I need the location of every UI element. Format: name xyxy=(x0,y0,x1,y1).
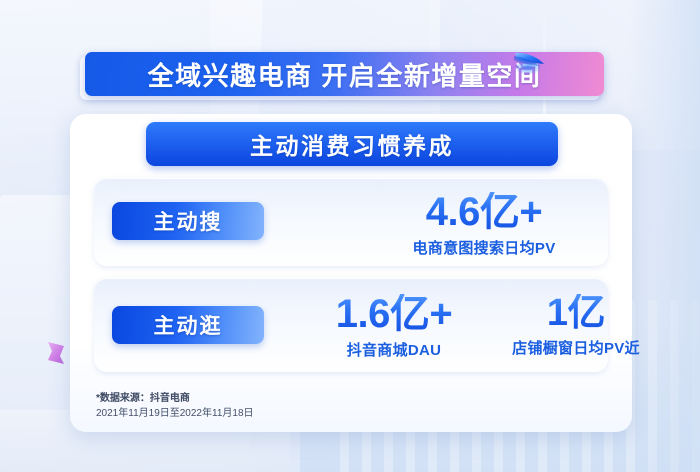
footnote: *数据来源：抖音电商 2021年11月19日至2022年11月18日 xyxy=(96,392,254,421)
main-card: 主动消费习惯养成 主动搜 4.6亿+ 电商意图搜索日均PV 主动逛 1.6亿+ … xyxy=(70,114,632,432)
stat-row-active-search: 主动搜 4.6亿+ 电商意图搜索日均PV xyxy=(94,178,608,266)
title-banner-gradient: 全域兴趣电商 开启全新增量空间 xyxy=(85,52,604,96)
pink-ribbon-icon xyxy=(44,340,68,366)
stat-block: 1.6亿+ 抖音商城DAU xyxy=(294,294,494,360)
card-header-title: 主动消费习惯养成 xyxy=(250,127,454,161)
title-banner: 全域兴趣电商 开启全新增量空间 xyxy=(80,52,604,100)
bg-right-edge-shade xyxy=(628,0,700,472)
stat-row-label: 主动逛 xyxy=(154,310,223,340)
infographic-slide: 全域兴趣电商 开启全新增量空间 xyxy=(0,0,700,472)
footnote-period: 2021年11月19日至2022年11月18日 xyxy=(96,407,254,422)
stat-row-label: 主动搜 xyxy=(154,206,223,236)
card-header-pill: 主动消费习惯养成 xyxy=(146,122,558,166)
stat-block: 1亿 店铺橱窗日均PV近 xyxy=(486,294,666,358)
stat-caption: 店铺橱窗日均PV近 xyxy=(486,337,666,358)
stat-caption: 抖音商城DAU xyxy=(294,339,494,360)
stat-value: 1.6亿+ xyxy=(294,294,494,334)
stat-value: 4.6亿+ xyxy=(374,192,594,232)
stat-value: 1亿 xyxy=(486,294,666,332)
stat-row-label-pill: 主动逛 xyxy=(112,306,264,344)
stat-caption: 电商意图搜索日均PV xyxy=(374,237,594,258)
stat-row-active-browse: 主动逛 1.6亿+ 抖音商城DAU 1亿 店铺橱窗日均PV近 xyxy=(94,278,608,372)
page-title: 全域兴趣电商 开启全新增量空间 xyxy=(148,56,542,93)
stat-row-label-pill: 主动搜 xyxy=(112,202,264,240)
footnote-source: *数据来源：抖音电商 xyxy=(96,392,254,407)
stat-block: 4.6亿+ 电商意图搜索日均PV xyxy=(374,192,594,258)
